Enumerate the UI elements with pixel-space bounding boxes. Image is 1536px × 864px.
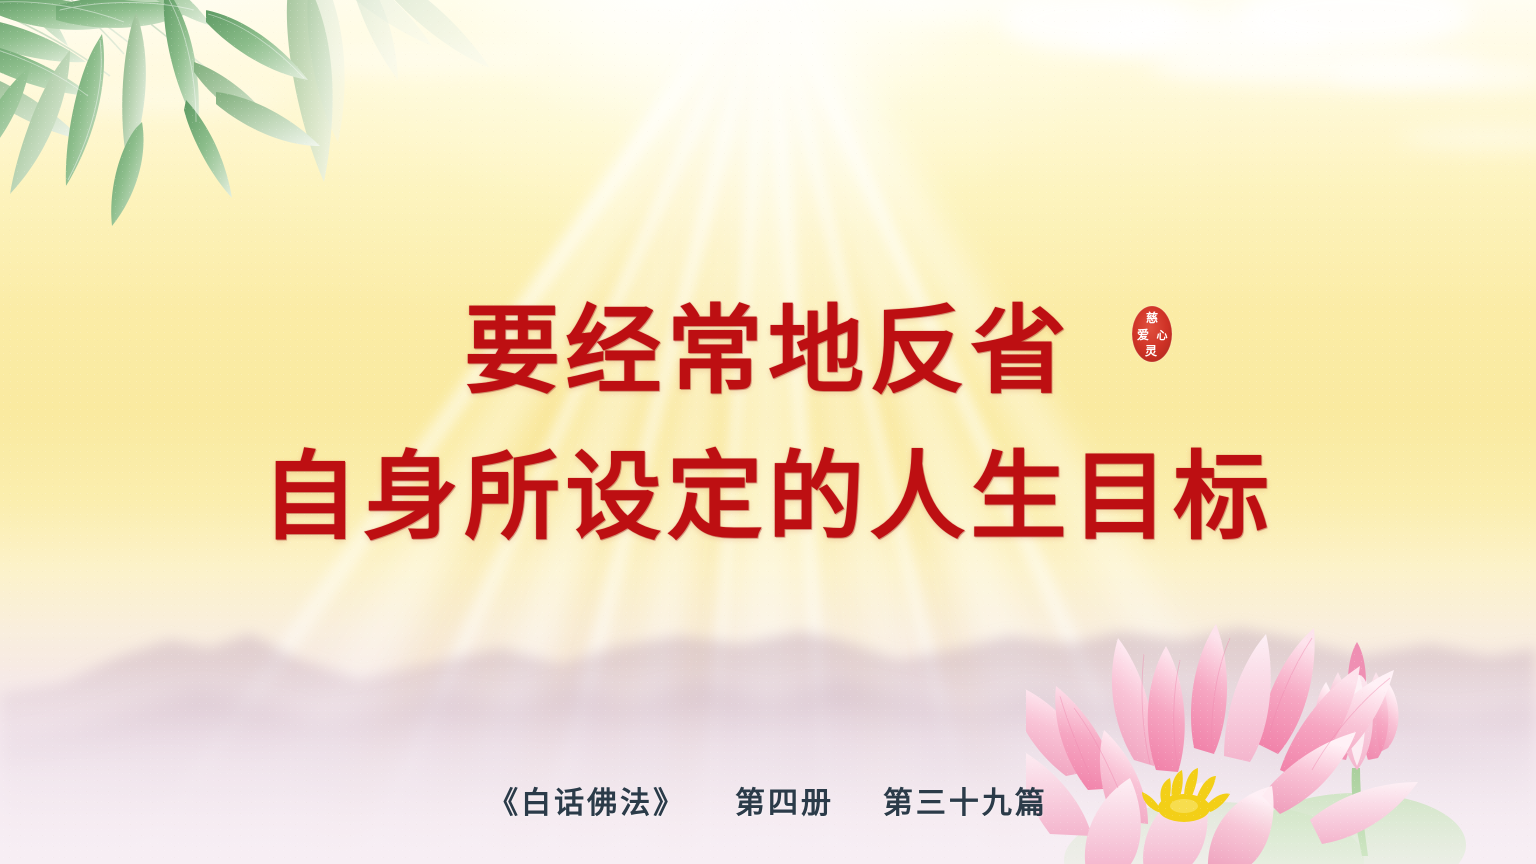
svg-text:灵: 灵: [1145, 343, 1158, 358]
headline-line-2: 自身所设定的人生目标: [0, 442, 1536, 552]
headline-line-1: 要经常地反省: [0, 296, 1536, 406]
citation-chapter: 第三十九篇: [883, 786, 1048, 821]
svg-text:慈: 慈: [1146, 310, 1158, 325]
source-citation: 《白话佛法》 第四册 第三十九篇: [0, 778, 1536, 822]
slide-content: 要经常地反省 自身所设定的人生目标 慈 爱 心 灵: [0, 0, 1536, 864]
svg-text:心: 心: [1157, 329, 1168, 342]
seal-stamp-icon: 慈 爱 心 灵: [1126, 301, 1178, 367]
citation-volume: 第四册: [735, 786, 834, 821]
slide-canvas: 要经常地反省 自身所设定的人生目标 慈 爱 心 灵: [0, 0, 1536, 864]
svg-text:爱: 爱: [1137, 327, 1149, 342]
citation-book: 《白话佛法》: [488, 786, 686, 821]
